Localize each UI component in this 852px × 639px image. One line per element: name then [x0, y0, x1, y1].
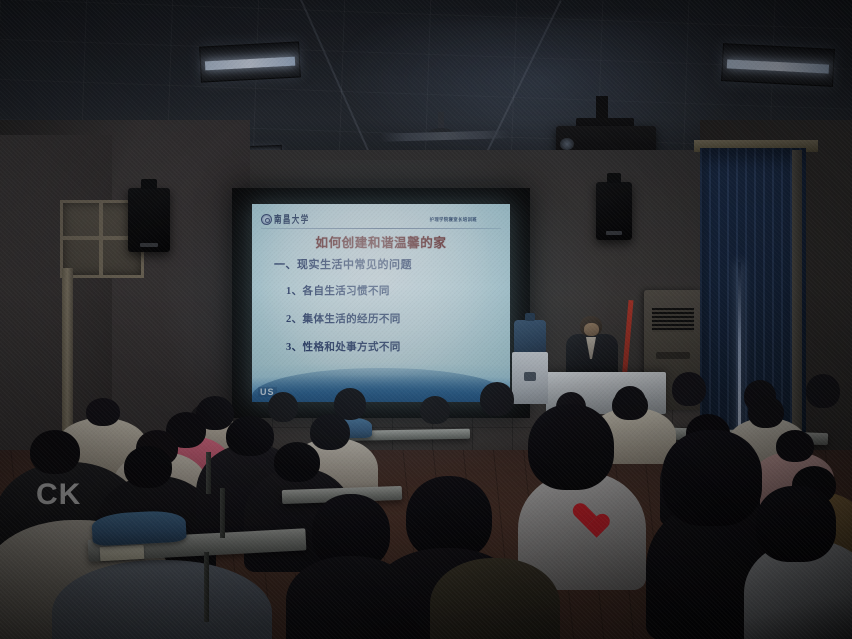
heart-graphic-icon: [572, 504, 600, 529]
lecture-hall-photo: 南昌大学 护理学院寝室长培训班 如何创建和谐温馨的家 一、现实生活中常见的问题 …: [0, 0, 852, 639]
slide-bullet: 1、各自生活习惯不同: [286, 283, 510, 298]
audience-head: [268, 392, 298, 422]
audience-head: [776, 430, 814, 462]
audience-head: [662, 430, 762, 526]
slide-title: 如何创建和谐温馨的家: [252, 232, 510, 251]
slide-header-divider: [261, 228, 501, 229]
university-logo: 南昌大学: [261, 214, 310, 225]
audience-head: [612, 390, 648, 420]
slide-bullet: 2、集体生活的经历不同: [286, 311, 510, 326]
water-bottle: [514, 320, 546, 356]
audience-head: [274, 442, 320, 482]
audience-head: [748, 396, 784, 428]
air-conditioner-panel: [656, 352, 690, 359]
left-wall-pipe: [62, 268, 73, 448]
right-window-frame: [792, 150, 802, 468]
audience-head: [528, 404, 614, 490]
audience-torso: [286, 556, 416, 639]
audience-head: [420, 396, 450, 424]
desk-leg: [206, 452, 211, 494]
water-dispenser-tap[interactable]: [524, 372, 536, 381]
audience-head: [480, 382, 514, 416]
university-seal-icon: [261, 214, 272, 225]
notebook-on-desk[interactable]: [100, 545, 145, 561]
slide-header: 南昌大学 护理学院寝室长培训班: [261, 212, 501, 227]
speaker-badge: [606, 231, 622, 235]
light-tube: [205, 57, 295, 71]
speaker-bracket: [607, 173, 621, 183]
audience-torso-olive: [430, 558, 560, 639]
audience-head: [30, 430, 80, 474]
university-logo-text: 南昌大学: [274, 212, 310, 227]
projection-screen-frame: 南昌大学 护理学院寝室长培训班 如何创建和谐温馨的家 一、现实生活中常见的问题 …: [232, 188, 530, 418]
projector-lens: [560, 138, 574, 150]
light-tube: [727, 59, 829, 74]
ck-jacket-text: CK: [36, 478, 81, 512]
desk-leg: [204, 552, 209, 622]
audience-head: [86, 398, 120, 426]
audience-head: [672, 372, 706, 406]
desk-leg: [220, 488, 225, 538]
wall-speaker-left: [128, 188, 170, 252]
wall-speaker-right: [596, 182, 632, 240]
projection-screen: 南昌大学 护理学院寝室长培训班 如何创建和谐温馨的家 一、现实生活中常见的问题 …: [252, 204, 510, 402]
audience-head: [124, 446, 172, 488]
audience-head: [310, 414, 350, 450]
air-conditioner-vent: [652, 308, 694, 332]
speaker-badge: [140, 243, 158, 247]
audience-head: [756, 486, 836, 562]
slide-header-subtitle: 护理学院寝室长培训班: [430, 217, 477, 223]
fluorescent-light-left: [199, 41, 301, 82]
audience-head: [226, 416, 274, 456]
fluorescent-light-right: [721, 43, 835, 87]
speaker-bracket: [141, 179, 158, 189]
audience-head: [806, 374, 840, 408]
slide-section-heading: 一、现实生活中常见的问题: [274, 256, 510, 272]
presenter-face: [584, 323, 599, 336]
